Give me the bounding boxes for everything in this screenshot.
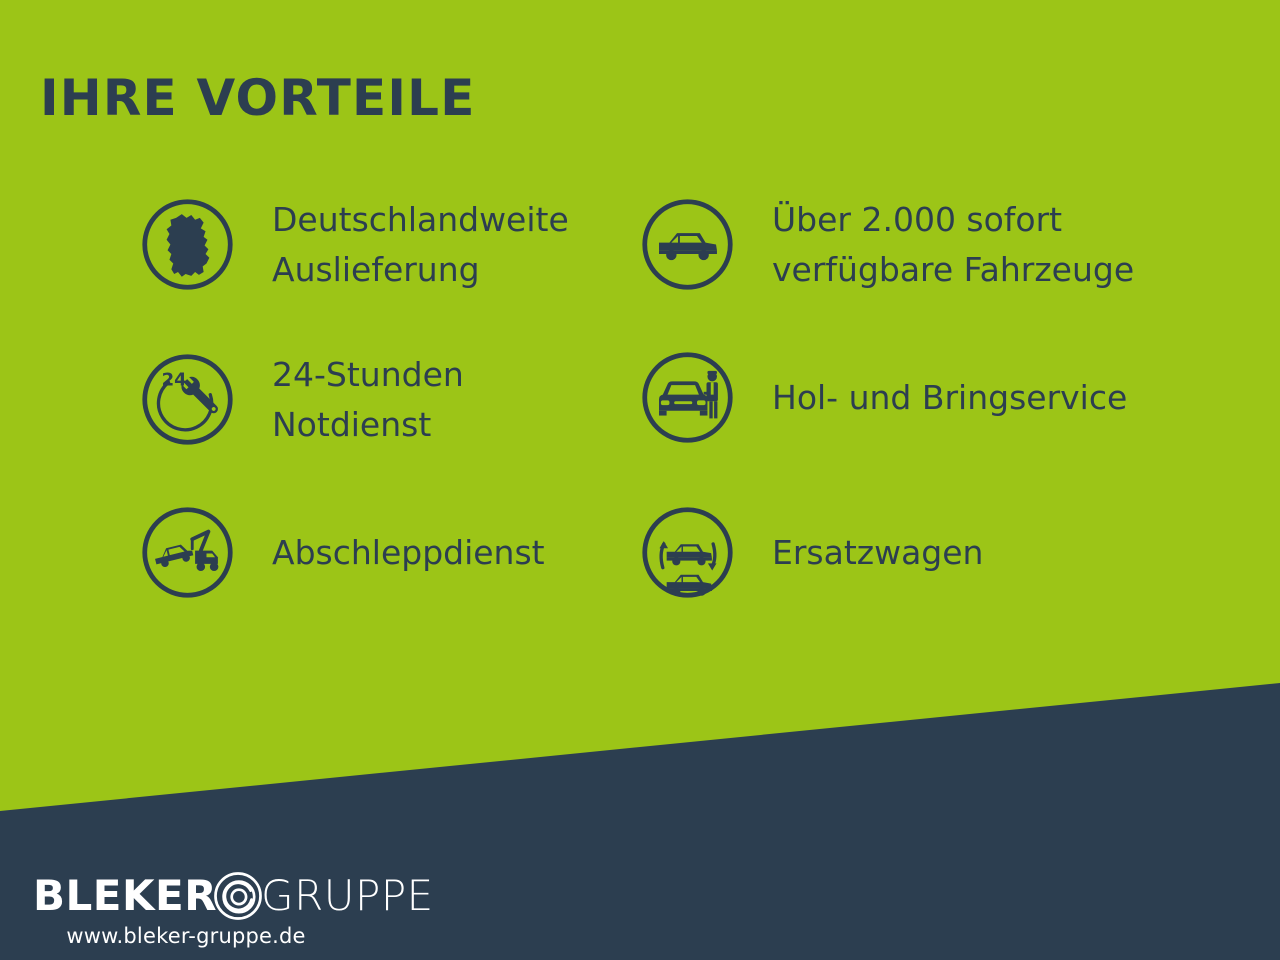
- logo-primary-text: BLEKER: [33, 875, 217, 917]
- clock-wrench-24h-icon: 24: [140, 352, 235, 447]
- benefit-item-deutschlandweite-auslieferung[interactable]: Deutschlandweite Auslieferung: [0, 195, 500, 294]
- benefit-item-abschleppdienst[interactable]: Abschleppdienst: [0, 505, 500, 600]
- website-url[interactable]: www.bleker-gruppe.de: [33, 924, 363, 948]
- benefit-row: 24 24-Stunden Notdienst: [0, 350, 1280, 505]
- benefit-item-ersatzwagen[interactable]: Ersatzwagen: [500, 505, 1140, 600]
- spiral-circle-icon: [211, 869, 265, 923]
- benefit-item-24-stunden-notdienst[interactable]: 24 24-Stunden Notdienst: [0, 350, 500, 449]
- two-cars-exchange-icon: [640, 505, 735, 600]
- slide-canvas: IHRE VORTEILE Deutschlandweite Ausliefer…: [0, 0, 1280, 960]
- benefit-row: Deutschlandweite Auslieferung Über 2.000…: [0, 195, 1280, 350]
- page-title: IHRE VORTEILE: [40, 73, 476, 123]
- car-side-icon: [640, 197, 735, 292]
- car-with-person-icon: [640, 350, 735, 445]
- benefits-list: Deutschlandweite Auslieferung Über 2.000…: [0, 195, 1280, 660]
- benefit-label: 24-Stunden Notdienst: [272, 350, 464, 449]
- germany-map-icon: [140, 197, 235, 292]
- logo-wordmark: BLEKER GRUPPE: [33, 872, 363, 920]
- benefit-label: Hol- und Bringservice: [772, 373, 1127, 423]
- benefit-item-verfuegbare-fahrzeuge[interactable]: Über 2.000 sofort verfügbare Fahrzeuge: [500, 195, 1140, 294]
- company-logo[interactable]: BLEKER GRUPPE www.bleker-gruppe.de: [33, 872, 363, 948]
- logo-secondary-text: GRUPPE: [261, 875, 434, 917]
- benefit-label: Ersatzwagen: [772, 528, 983, 578]
- benefit-row: Abschleppdienst: [0, 505, 1280, 660]
- benefit-item-hol-und-bringservice[interactable]: Hol- und Bringservice: [500, 350, 1140, 445]
- tow-truck-icon: [140, 505, 235, 600]
- benefit-label: Über 2.000 sofort verfügbare Fahrzeuge: [772, 195, 1134, 294]
